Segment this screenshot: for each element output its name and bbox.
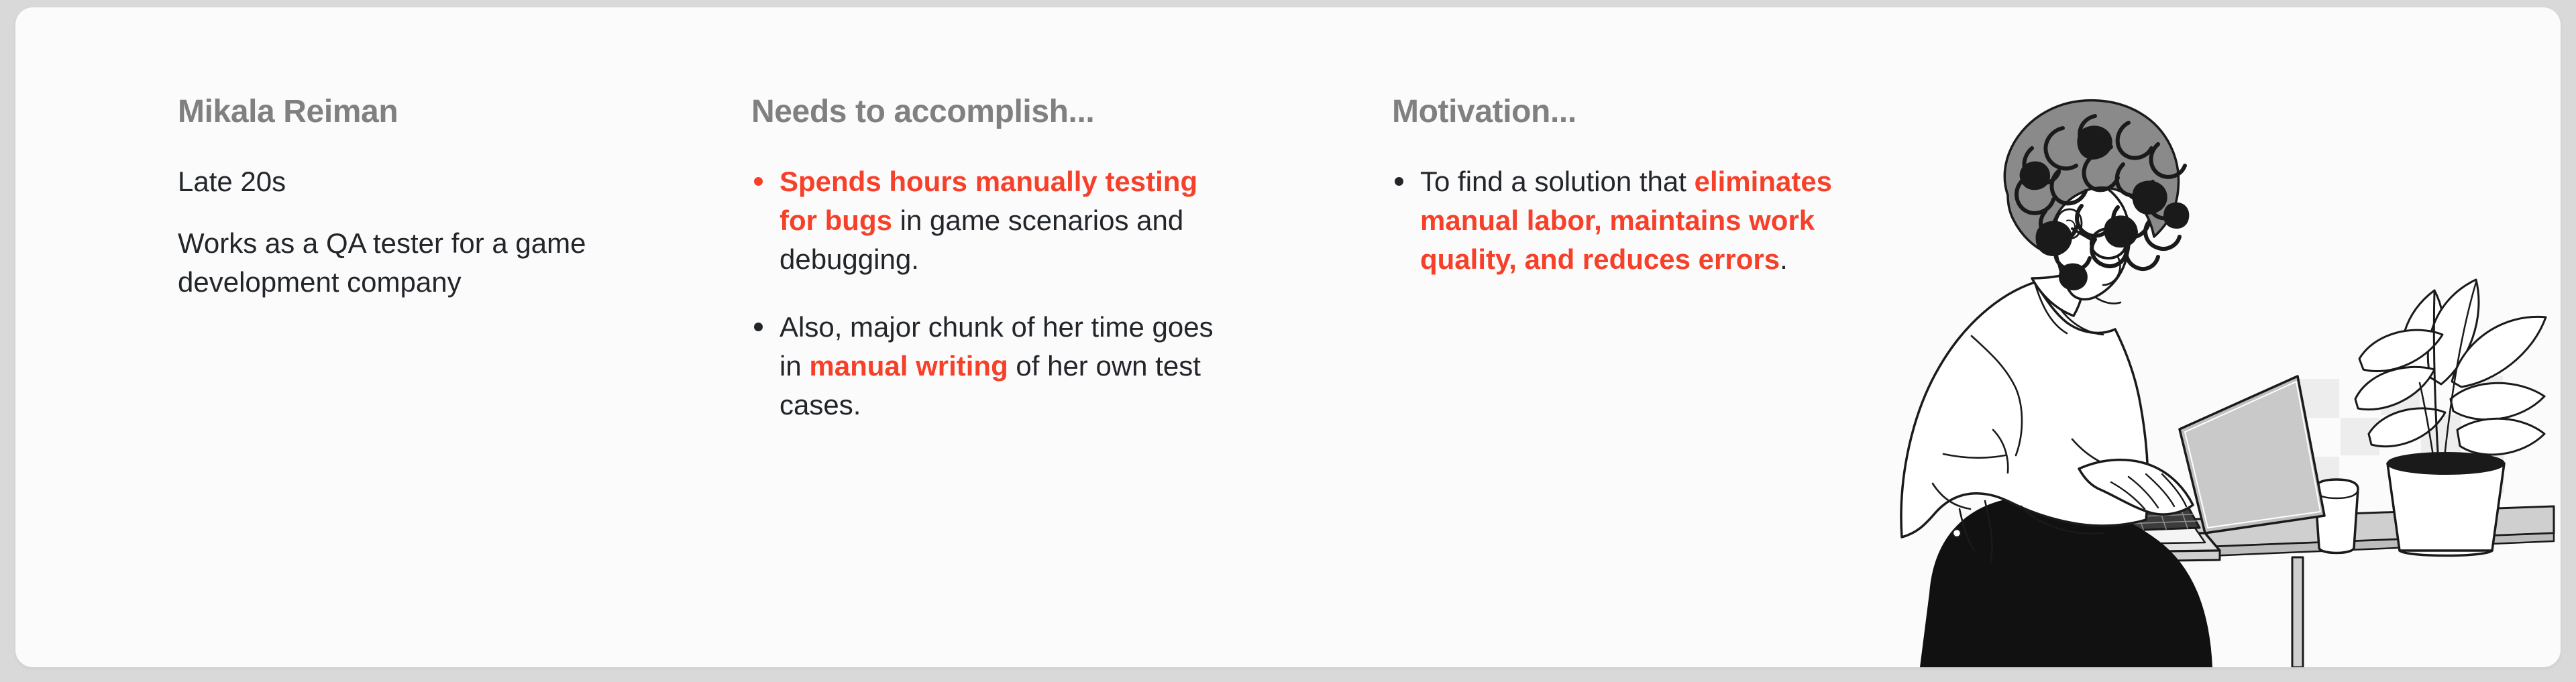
persona-name-heading: Mikala Reiman xyxy=(178,93,607,131)
motivation-column: Motivation... To find a solution that el… xyxy=(1392,93,1902,278)
persona-card: Mikala Reiman Late 20s Works as a QA tes… xyxy=(15,7,2561,667)
emphasis-text: manual writing xyxy=(809,350,1008,382)
persona-fact-occupation: Works as a QA tester for a game developm… xyxy=(178,224,607,302)
needs-bullet-text: Also, major chunk of her time goes in ma… xyxy=(780,311,1214,420)
needs-bullet-list: Spends hours manually testing for bugs i… xyxy=(751,162,1234,425)
bullet-dot-icon xyxy=(1395,177,1403,186)
needs-column: Needs to accomplish... Spends hours manu… xyxy=(751,93,1234,424)
list-item: Spends hours manually testing for bugs i… xyxy=(751,162,1234,279)
persona-fact-age: Late 20s xyxy=(178,162,607,201)
persona-identity-column: Mikala Reiman Late 20s Works as a QA tes… xyxy=(178,93,607,301)
bullet-dot-icon xyxy=(754,323,763,331)
motivation-bullet-list: To find a solution that eliminates manua… xyxy=(1392,162,1902,279)
motivation-heading: Motivation... xyxy=(1392,93,1902,131)
needs-bullet-text: Spends hours manually testing for bugs i… xyxy=(780,166,1197,275)
bullet-dot-icon xyxy=(754,177,763,186)
needs-heading: Needs to accomplish... xyxy=(751,93,1234,131)
list-item: Also, major chunk of her time goes in ma… xyxy=(751,308,1234,424)
plain-text: . xyxy=(1780,243,1788,275)
list-item: To find a solution that eliminates manua… xyxy=(1392,162,1902,279)
persona-facts-list: Late 20s Works as a QA tester for a game… xyxy=(178,162,607,302)
persona-columns: Mikala Reiman Late 20s Works as a QA tes… xyxy=(15,7,2561,667)
plain-text: To find a solution that xyxy=(1420,166,1695,197)
motivation-bullet-text: To find a solution that eliminates manua… xyxy=(1420,166,1832,275)
